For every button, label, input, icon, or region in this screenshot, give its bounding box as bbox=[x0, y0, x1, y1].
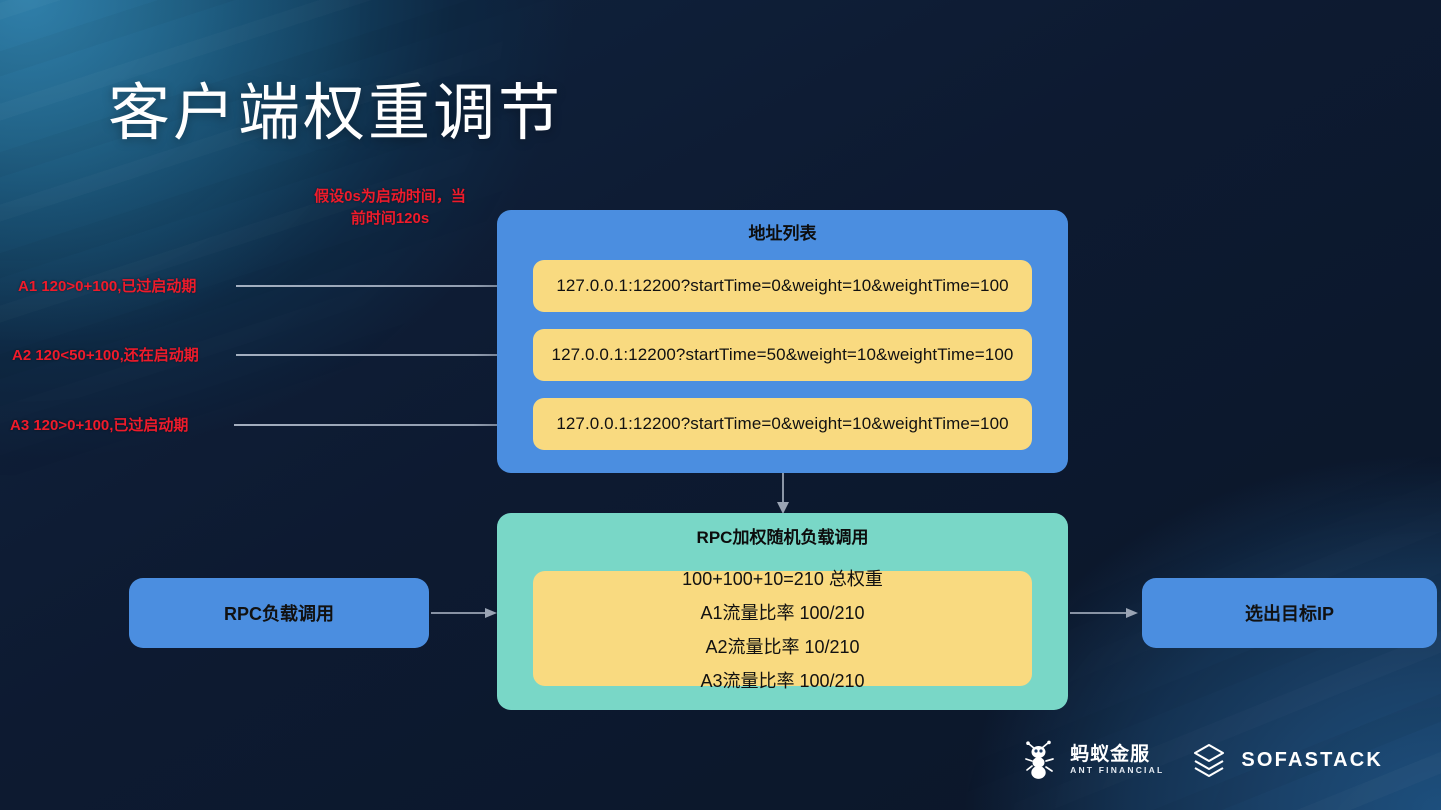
rpc-invoke-start-box[interactable]: RPC负载调用 bbox=[129, 578, 429, 648]
weight-line-a3: A3流量比率 100/210 bbox=[700, 667, 864, 693]
slide-title: 客户端权重调节 bbox=[108, 78, 563, 149]
leader-line-a2 bbox=[236, 354, 526, 356]
arrow-addresslist-to-loadbalance bbox=[772, 473, 794, 515]
weights-breakdown: 100+100+10=210 总权重 A1流量比率 100/210 A2流量比率… bbox=[533, 571, 1032, 686]
weight-line-total: 100+100+10=210 总权重 bbox=[682, 565, 883, 591]
target-ip-result-box[interactable]: 选出目标IP bbox=[1142, 578, 1437, 648]
leader-line-a3 bbox=[234, 424, 526, 426]
address-entry-2[interactable]: 127.0.0.1:12200?startTime=50&weight=10&w… bbox=[533, 329, 1032, 381]
footer-logos: 蚂蚁金服 ANT FINANCIAL SOFASTACK bbox=[1025, 740, 1383, 780]
slide-canvas: 客户端权重调节 假设0s为启动时间，当前时间120s A1 120>0+100,… bbox=[0, 0, 1441, 810]
sofastack-cube-icon bbox=[1190, 741, 1228, 779]
address-list-title: 地址列表 bbox=[497, 219, 1068, 244]
address-entry-1[interactable]: 127.0.0.1:12200?startTime=0&weight=10&we… bbox=[533, 260, 1032, 312]
ant-financial-logo: 蚂蚁金服 ANT FINANCIAL bbox=[1025, 740, 1164, 780]
address-entry-3[interactable]: 127.0.0.1:12200?startTime=0&weight=10&we… bbox=[533, 398, 1032, 450]
note-a3: A3 120>0+100,已过启动期 bbox=[10, 415, 188, 437]
ant-mascot-icon bbox=[1025, 740, 1061, 780]
arrow-start-to-loadbalance bbox=[431, 603, 499, 623]
loadbalance-title: RPC加权随机负载调用 bbox=[497, 523, 1068, 548]
ant-logo-cn-text: 蚂蚁金服 bbox=[1070, 745, 1164, 765]
note-a2: A2 120<50+100,还在启动期 bbox=[12, 345, 199, 367]
loadbalance-panel: RPC加权随机负载调用 100+100+10=210 总权重 A1流量比率 10… bbox=[497, 513, 1068, 710]
ant-logo-en-text: ANT FINANCIAL bbox=[1070, 765, 1164, 775]
note-a1: A1 120>0+100,已过启动期 bbox=[18, 276, 196, 298]
arrow-loadbalance-to-result bbox=[1070, 603, 1140, 623]
note-assumption: 假设0s为启动时间，当前时间120s bbox=[310, 186, 470, 230]
address-list-panel: 地址列表 127.0.0.1:12200?startTime=0&weight=… bbox=[497, 210, 1068, 473]
target-ip-result-label: 选出目标IP bbox=[1142, 578, 1437, 648]
leader-line-a1 bbox=[236, 285, 526, 287]
sofastack-logo: SOFASTACK bbox=[1190, 741, 1383, 779]
weight-line-a1: A1流量比率 100/210 bbox=[700, 599, 864, 625]
sofastack-wordmark: SOFASTACK bbox=[1241, 749, 1383, 772]
rpc-invoke-start-label: RPC负载调用 bbox=[129, 578, 429, 648]
weight-line-a2: A2流量比率 10/210 bbox=[705, 633, 859, 659]
